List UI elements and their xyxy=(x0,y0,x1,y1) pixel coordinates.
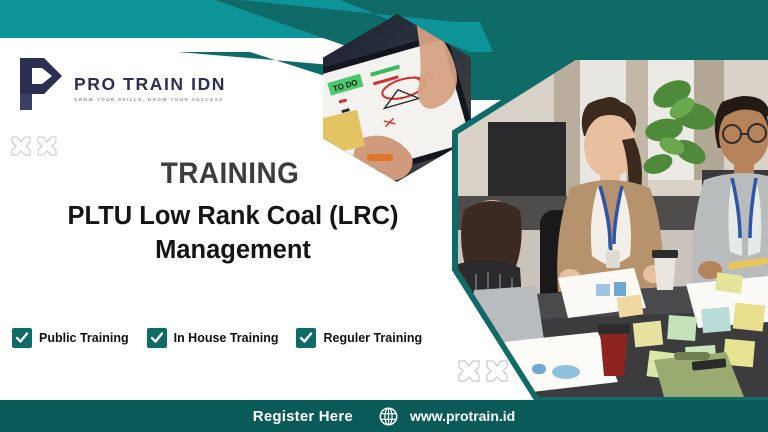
training-option-reguler[interactable]: Reguler Training xyxy=(296,328,422,348)
training-type-options: Public Training In House Training Regule… xyxy=(12,328,422,348)
training-poster: PRO TRAIN IDN GROW YOUR SKILLS, GROW YOU… xyxy=(0,0,768,432)
training-option-in-house[interactable]: In House Training xyxy=(147,328,279,348)
checkbox-checked-icon[interactable] xyxy=(12,328,32,348)
page-title-line-1: PLTU Low Rank Coal (LRC) xyxy=(67,202,398,230)
page-kicker: TRAINING xyxy=(16,157,444,191)
register-here-cta[interactable]: Register Here xyxy=(253,408,353,425)
training-option-public[interactable]: Public Training xyxy=(12,328,129,348)
decorative-x-cluster-bottom xyxy=(455,357,517,394)
website-link[interactable]: www.protrain.id xyxy=(379,407,515,426)
brand-tagline: GROW YOUR SKILLS, GROW YOUR SUCCESS xyxy=(74,97,226,102)
pro-train-arrow-mark-icon xyxy=(14,54,66,114)
page-title: PLTU Low Rank Coal (LRC) Management xyxy=(18,200,448,268)
globe-icon xyxy=(379,407,398,426)
website-url: www.protrain.id xyxy=(410,408,515,424)
brand-logo[interactable]: PRO TRAIN IDN GROW YOUR SKILLS, GROW YOU… xyxy=(14,54,226,114)
training-option-label: In House Training xyxy=(174,331,279,345)
page-title-line-2: Management xyxy=(155,236,311,264)
brand-name: PRO TRAIN IDN xyxy=(74,76,226,94)
footer-bar: Register Here www.protrain.id xyxy=(0,400,768,432)
training-option-label: Reguler Training xyxy=(323,331,422,345)
checkbox-checked-icon[interactable] xyxy=(296,328,316,348)
checkbox-checked-icon[interactable] xyxy=(147,328,167,348)
training-option-label: Public Training xyxy=(39,331,129,345)
